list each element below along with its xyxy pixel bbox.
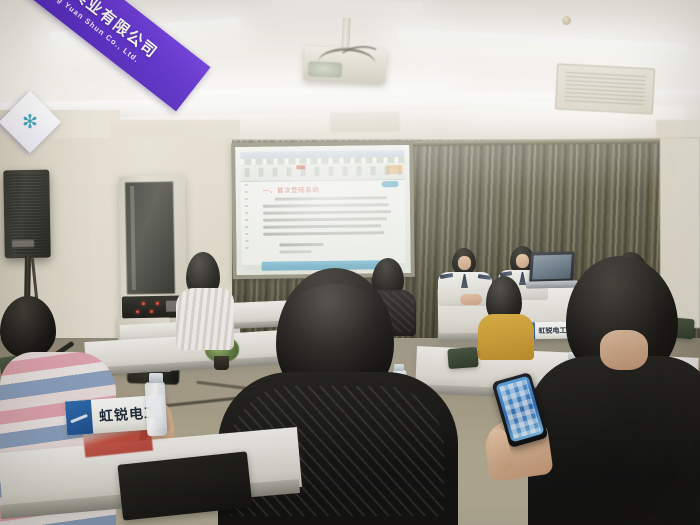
photo-screenshot: 一、首次登陆系统 [0,0,700,525]
ceiling-air-diffuser-icon [330,111,400,132]
water-bottle [145,382,168,437]
presenter-face [516,254,529,268]
hair-highlight [286,284,384,354]
presenter-hand [460,294,482,305]
watermark-logo-badge: ✻ [0,91,61,153]
amp-led-indicator [150,310,153,313]
attendee-blouse [176,288,234,350]
screen-glare [235,145,411,275]
bottle-cap [394,364,404,371]
ceiling-air-diffuser-icon [555,63,655,114]
attendee-top [478,314,534,360]
amp-led-indicator [142,302,145,305]
foreground-attendee-head [0,296,56,358]
placard-name: 虹锐电工 [535,325,570,336]
chair[interactable] [447,347,478,369]
placard-logo-icon [65,400,93,436]
laptop-keyboard[interactable] [526,280,578,288]
rack-amplifier[interactable] [122,295,184,318]
projection-screen: 一、首次登陆系统 [235,145,411,275]
speaker-brand-label [12,240,34,247]
plant-pot [214,356,229,370]
laptop-screen [532,254,571,279]
amp-led-indicator [136,310,139,313]
presenter-face [458,256,471,270]
amp-led-indicator [156,302,159,305]
bottle-cap [149,373,163,383]
fire-sprinkler-icon [562,16,571,25]
bird-leaf-logo-icon: ✻ [8,100,52,144]
foreground-attendee-ear-neck [600,330,648,370]
